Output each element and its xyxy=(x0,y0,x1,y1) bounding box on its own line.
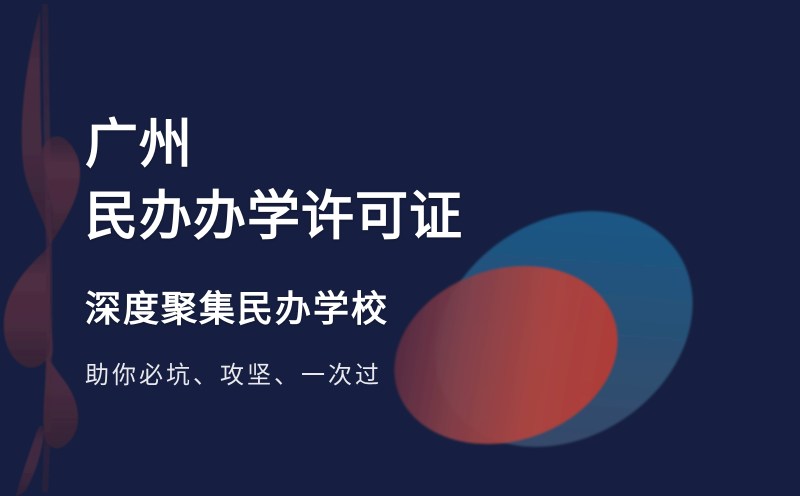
banner-tagline: 助你必坑、攻坚、一次过 xyxy=(85,360,645,391)
banner-subtitle: 深度聚集民办学校 xyxy=(85,287,645,334)
promo-banner: 广州 民办办学许可证 深度聚集民办学校 助你必坑、攻坚、一次过 xyxy=(0,0,800,496)
banner-text-block: 广州 民办办学许可证 深度聚集民办学校 助你必坑、攻坚、一次过 xyxy=(85,0,645,496)
banner-title-line-1: 广州 xyxy=(85,111,645,179)
wave-ribbon-decoration xyxy=(4,4,80,496)
banner-title-line-2: 民办办学许可证 xyxy=(85,183,645,251)
